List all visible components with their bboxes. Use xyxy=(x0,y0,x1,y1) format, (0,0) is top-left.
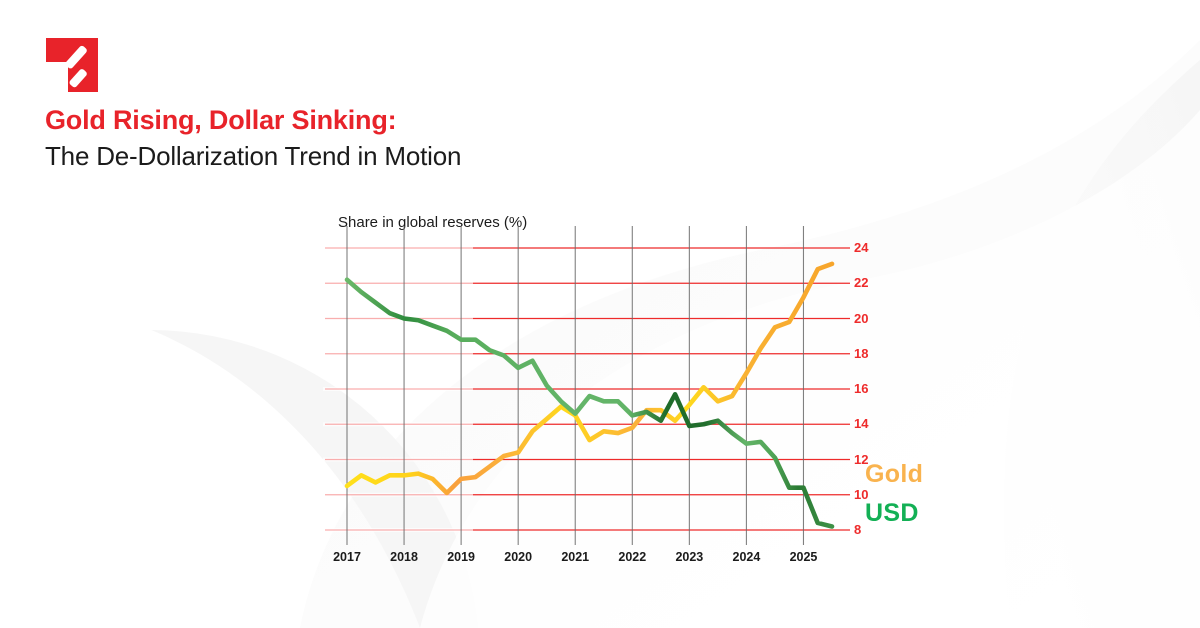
page-title: Gold Rising, Dollar Sinking: xyxy=(45,105,396,136)
data-series-lines xyxy=(347,264,832,527)
infographic-canvas: Gold Rising, Dollar Sinking: The De-Doll… xyxy=(0,0,1200,628)
x-axis-tick: 2024 xyxy=(723,550,769,564)
y-axis-tick: 14 xyxy=(854,416,868,431)
x-axis-tick: 2022 xyxy=(609,550,655,564)
x-axis-tick: 2020 xyxy=(495,550,541,564)
legend-item-gold: Gold xyxy=(865,460,923,489)
y-axis-tick: 24 xyxy=(854,240,868,255)
chart-container: Share in global reserves (%) xyxy=(320,200,960,575)
y-axis-tick: 18 xyxy=(854,346,868,361)
x-axis-tick: 2023 xyxy=(666,550,712,564)
x-axis-tick: 2025 xyxy=(780,550,826,564)
y-axis-tick: 8 xyxy=(854,522,861,537)
horizontal-gridlines xyxy=(323,246,850,532)
vertical-gridlines xyxy=(347,226,803,545)
x-axis-tick: 2021 xyxy=(552,550,598,564)
brand-logo-icon xyxy=(46,38,98,92)
page-subtitle: The De-Dollarization Trend in Motion xyxy=(45,141,461,172)
x-axis-tick: 2019 xyxy=(438,550,484,564)
y-axis-tick: 16 xyxy=(854,381,868,396)
x-axis-tick: 2017 xyxy=(324,550,370,564)
legend-item-usd: USD xyxy=(865,499,919,528)
x-axis-tick: 2018 xyxy=(381,550,427,564)
y-axis-tick: 22 xyxy=(854,275,868,290)
y-axis-tick: 20 xyxy=(854,311,868,326)
